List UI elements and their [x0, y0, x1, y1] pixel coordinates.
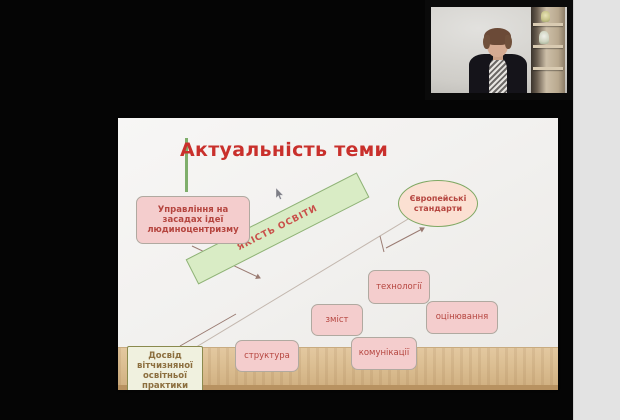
node-label: структура [244, 351, 290, 361]
presenter-hair [483, 35, 490, 49]
node-label: оцінювання [436, 312, 489, 322]
node-label: Управління на засадах ідеї людиноцентриз… [141, 205, 245, 235]
node-tehnologii[interactable]: технології [368, 270, 430, 304]
node-european-standards[interactable]: Європейські стандарти [398, 180, 478, 227]
node-zmist[interactable]: зміст [311, 304, 363, 336]
screen-capture: Актуальність теми ЯКІСТЬ ОСВІТИ [0, 0, 620, 420]
node-label: зміст [326, 315, 349, 325]
node-label: Досвід вітчизняної освітньої практики [131, 351, 199, 390]
node-label: технології [376, 282, 422, 292]
right-side-panel [573, 0, 620, 420]
shelf-board [533, 45, 563, 48]
shelf-plant [539, 31, 549, 44]
presenter-blouse [489, 59, 507, 93]
shelf-board [533, 67, 563, 70]
mouse-pointer-icon [276, 188, 284, 200]
node-struktura[interactable]: структура [235, 340, 299, 372]
node-upravlinnya[interactable]: Управління на засадах ідеї людиноцентриз… [136, 196, 250, 244]
webcam-shelf [531, 7, 565, 93]
presentation-slide[interactable]: Актуальність теми ЯКІСТЬ ОСВІТИ [118, 118, 558, 390]
node-ocinuvannya[interactable]: оцінювання [426, 301, 498, 334]
presenter-webcam-thumbnail[interactable] [425, 0, 573, 100]
webcam-video-frame [431, 7, 567, 93]
presenter-hair [505, 35, 512, 49]
node-dosvid[interactable]: Досвід вітчизняної освітньої практики [127, 346, 203, 390]
node-label: комунікації [359, 348, 410, 358]
node-komunikacii[interactable]: комунікації [351, 337, 417, 370]
slide-title: Актуальність теми [180, 139, 388, 161]
node-label: Європейські стандарти [399, 194, 477, 213]
shelf-plant [541, 11, 550, 22]
shelf-board [533, 23, 563, 26]
